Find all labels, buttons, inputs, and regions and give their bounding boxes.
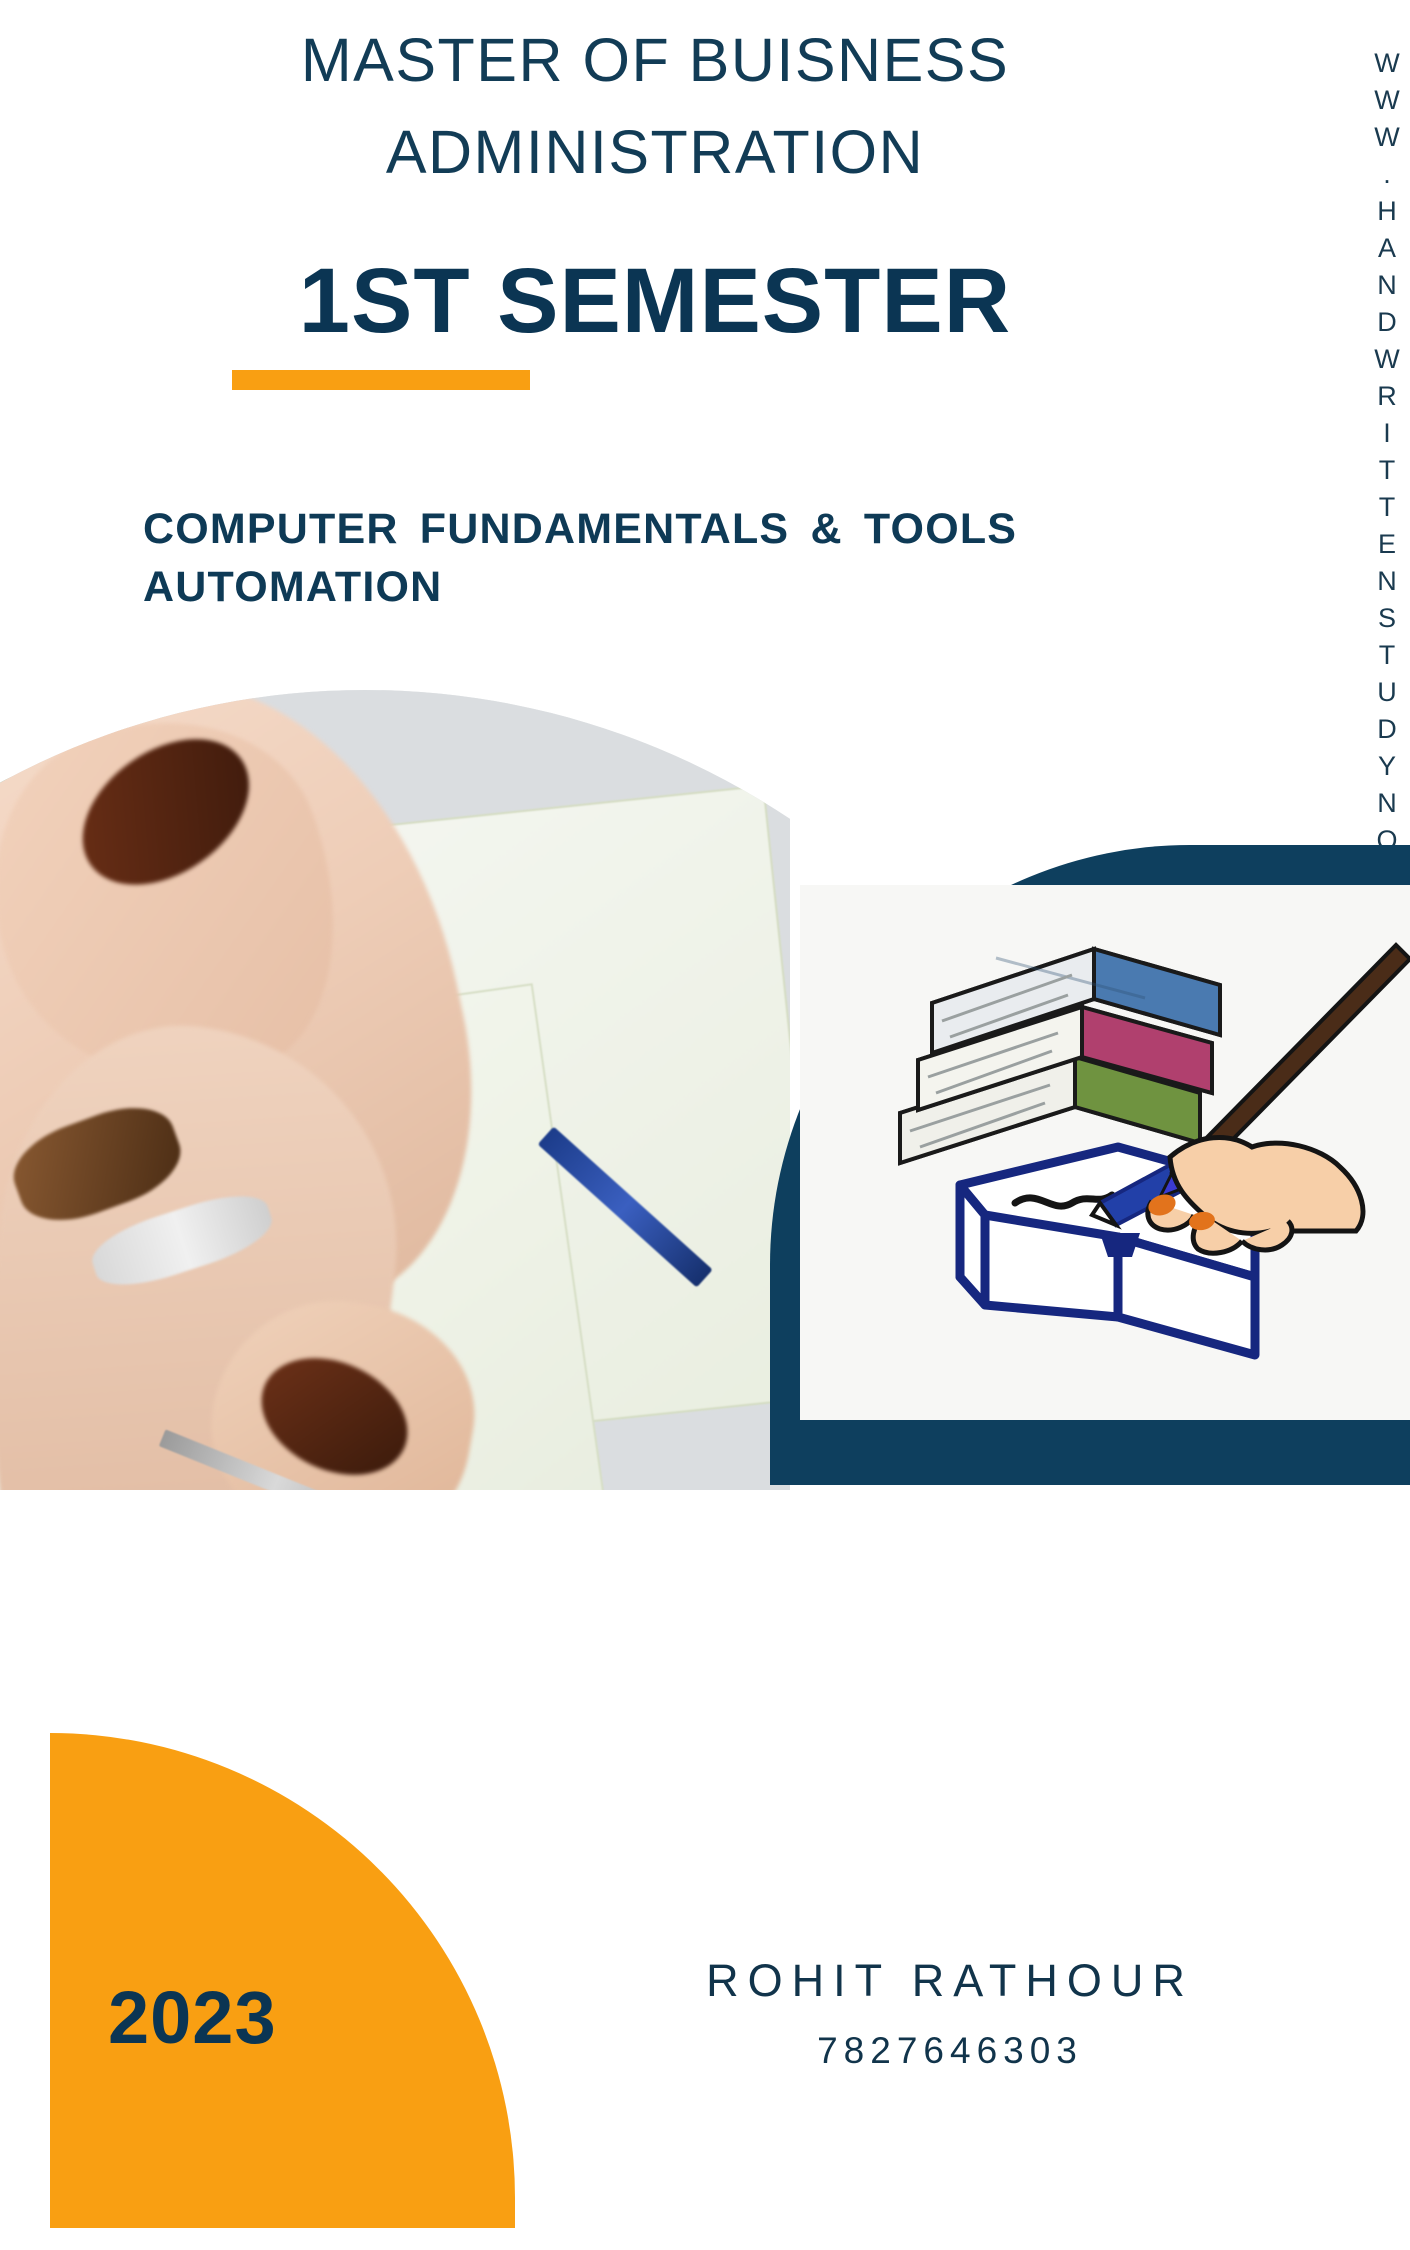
subject-title: COMPUTER FUNDAMENTALS & TOOLS AUTOMATION bbox=[143, 500, 1303, 616]
books-and-hand-writing-icon bbox=[800, 885, 1410, 1420]
program-title-line-2: ADMINISTRATION bbox=[0, 120, 1310, 184]
author-phone: 7827646303 bbox=[600, 2030, 1300, 2072]
author-name: ROHIT RATHOUR bbox=[600, 1955, 1300, 2007]
year-label: 2023 bbox=[108, 1975, 277, 2060]
desk-photo-frame bbox=[0, 690, 790, 1490]
illustration-card bbox=[800, 885, 1410, 1420]
semester-underline-accent bbox=[232, 370, 530, 390]
semester-title: 1ST SEMESTER bbox=[0, 255, 1310, 347]
cover-page: MASTER OF BUISNESS ADMINISTRATION 1ST SE… bbox=[0, 0, 1410, 2250]
desk-photo bbox=[0, 690, 790, 1490]
program-title-line-1: MASTER OF BUISNESS bbox=[0, 28, 1310, 92]
